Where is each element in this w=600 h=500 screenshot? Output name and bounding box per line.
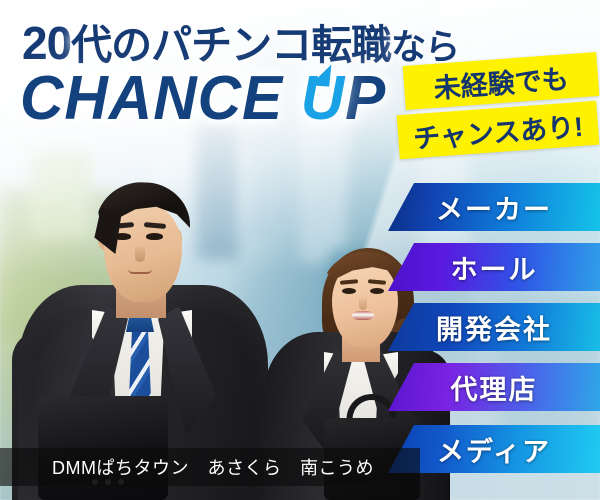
category-label-hall: ホール (451, 248, 538, 287)
category-label-development-company: 開発会社 (436, 308, 552, 347)
headline: 20代のパチンコ転職なら (22, 20, 459, 66)
category-label-maker: メーカー (436, 188, 552, 227)
headline-number: 20 (22, 17, 71, 69)
female-nose (359, 298, 367, 310)
category-button-agency[interactable]: 代理店 (388, 363, 600, 411)
headline-tail: なら (391, 28, 459, 67)
male-eye-right (146, 233, 163, 240)
female-eye-left (342, 288, 356, 294)
male-mouth (128, 269, 152, 274)
female-mouth (352, 311, 374, 320)
callout-1-label: 未経験でも (432, 57, 569, 106)
category-label-media: メディア (437, 430, 551, 469)
caption-bar: DMMぱちタウン あさくら 南こうめ (0, 448, 420, 486)
category-button-maker[interactable]: メーカー (388, 183, 600, 231)
chance-up-logo: CHANCE UP (20, 68, 386, 130)
male-nose (135, 246, 145, 262)
category-label-agency: 代理店 (451, 368, 538, 407)
female-eye-right (370, 288, 384, 294)
models-photo (0, 140, 420, 500)
category-button-development-company[interactable]: 開発会社 (388, 303, 600, 351)
logo-p-letter: P (345, 64, 386, 133)
headline-middle: 代のパチンコ転職 (71, 22, 391, 68)
logo-u-glyph: U (301, 64, 345, 133)
logo-chance-text: CHANCE (20, 64, 301, 133)
category-button-hall[interactable]: ホール (388, 243, 600, 291)
logo-u-letter: U (301, 68, 345, 130)
caption-text: DMMぱちタウン あさくら 南こうめ (52, 454, 374, 480)
promo-banner[interactable]: 20代のパチンコ転職なら CHANCE UP 未経験でも チャンスあり! メーカ… (0, 0, 600, 500)
